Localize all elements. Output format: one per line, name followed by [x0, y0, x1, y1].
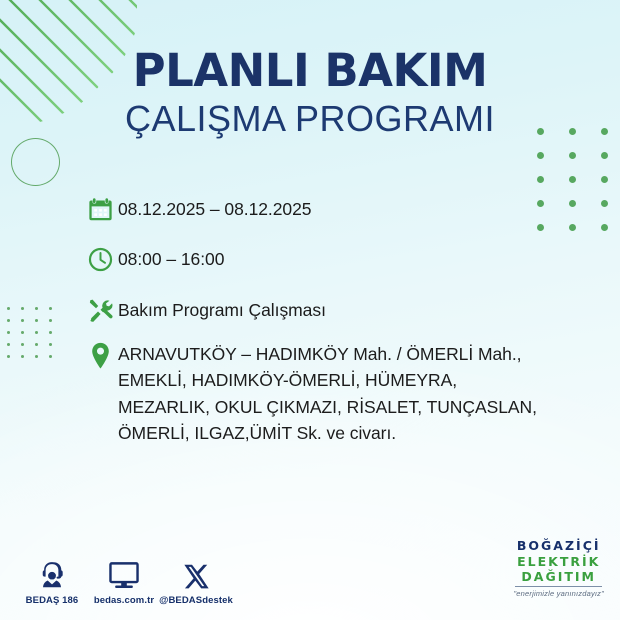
clock-icon: [82, 242, 118, 276]
logo-line-2: ELEKTRİK: [513, 554, 604, 569]
contact-x-label: @BEDASdestek: [146, 595, 246, 606]
logo-tagline: "enerjimizle yanınızdayız": [513, 589, 604, 598]
contact-x-account[interactable]: @BEDASdestek: [146, 558, 246, 606]
footer: BEDAŞ 186 bedas.com.tr @BEDASdestek BOĞA…: [0, 542, 620, 612]
detail-row-work-type: Bakım Programı Çalışması: [82, 293, 552, 327]
bedas-logo: BOĞAZİÇİ ELEKTRİK DAĞITIM "enerjimizle y…: [513, 538, 604, 598]
location-pin-icon: [82, 339, 118, 373]
x-twitter-icon: [146, 558, 246, 590]
page-subtitle: ÇALIŞMA PROGRAMI: [0, 98, 620, 140]
header: PLANLI BAKIM ÇALIŞMA PROGRAMI: [0, 48, 620, 140]
tools-icon: [82, 293, 118, 327]
page-title: PLANLI BAKIM: [0, 48, 620, 94]
detail-row-time: 08:00 – 16:00: [82, 242, 552, 276]
detail-row-location: ARNAVUTKÖY – HADIMKÖY Mah. / ÖMERLİ Mah.…: [82, 339, 552, 446]
calendar-icon: [82, 192, 118, 226]
time-range-text: 08:00 – 16:00: [118, 242, 224, 272]
logo-line-3: DAĞITIM: [513, 569, 604, 584]
detail-row-date: 08.12.2025 – 08.12.2025: [82, 192, 552, 226]
circle-outline-decoration: [11, 138, 60, 186]
logo-line-1: BOĞAZİÇİ: [513, 538, 604, 553]
dot-grid-left-decoration: [7, 307, 63, 367]
maintenance-details: 08.12.2025 – 08.12.2025 08:00 – 16:00 Ba…: [82, 192, 552, 460]
date-range-text: 08.12.2025 – 08.12.2025: [118, 192, 311, 222]
work-type-text: Bakım Programı Çalışması: [118, 293, 326, 323]
location-text: ARNAVUTKÖY – HADIMKÖY Mah. / ÖMERLİ Mah.…: [118, 339, 552, 446]
logo-divider: [515, 586, 602, 587]
